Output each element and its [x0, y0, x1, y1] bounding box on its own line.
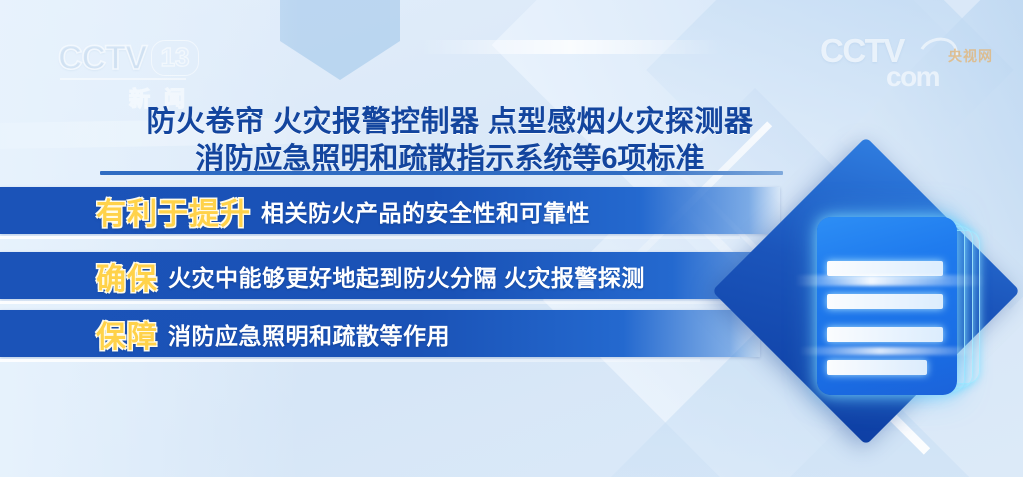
statement-body-1: 相关防火产品的安全性和可靠性 — [261, 194, 590, 228]
cctv-com-watermark: CCTV com 央视网 — [820, 38, 995, 86]
statement-separator-1 — [0, 236, 740, 239]
cctv-wordmark: CCTV — [58, 41, 147, 75]
statement-body-3: 消防应急照明和疏散等作用 — [168, 317, 450, 351]
statement-lead-1: 有利于提升 — [96, 189, 251, 233]
title-divider — [100, 171, 783, 175]
document-text-line-3 — [827, 327, 943, 342]
statement-lead-2: 确保 — [96, 254, 158, 298]
logo-underline — [60, 78, 186, 80]
statement-separator-3 — [0, 359, 700, 362]
cctv13-channel-logo: CCTV 13 新闻 — [58, 40, 248, 102]
statement-lead-3: 保障 — [96, 312, 158, 356]
statement-bar-3: 保障 消防应急照明和疏散等作用 — [0, 310, 760, 357]
watermark-chinese-label: 央视网 — [948, 46, 993, 66]
news-graphic-slide: CCTV 13 新闻 CCTV com 央视网 防火卷帘 火灾报警控制器 点型感… — [0, 0, 1023, 477]
document-graphic — [735, 170, 1023, 477]
document-light-beam-1 — [795, 275, 985, 286]
bg-band-top — [420, 40, 720, 54]
document-text-line-4 — [827, 360, 927, 375]
page-title: 防火卷帘 火灾报警控制器 点型感烟火灾探测器 消防应急照明和疏散指示系统等6项标… — [0, 104, 900, 178]
statement-bar-1: 有利于提升 相关防火产品的安全性和可靠性 — [0, 187, 780, 234]
headline-line-1: 防火卷帘 火灾报警控制器 点型感烟火灾探测器 — [0, 104, 900, 141]
statement-body-2: 火灾中能够更好地起到防火分隔 火灾报警探测 — [168, 259, 645, 293]
channel-number-badge: 13 — [151, 40, 200, 76]
document-light-beam-2 — [799, 347, 979, 355]
document-text-line-1 — [827, 261, 943, 276]
document-stack-icon — [817, 217, 957, 395]
document-text-line-2 — [827, 294, 943, 309]
statement-separator-2 — [0, 301, 780, 304]
